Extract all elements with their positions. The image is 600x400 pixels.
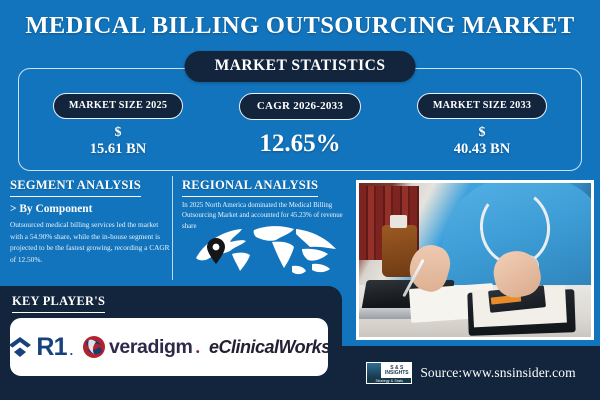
key-players-panel: KEY PLAYER'S R1 . veradigm . [0, 286, 342, 400]
sns-word-text: INSIGHTS [385, 371, 409, 376]
bottle-cap [390, 215, 406, 227]
market-statistics-badge: MARKET STATISTICS [185, 51, 416, 82]
swirl-icon [82, 335, 106, 359]
sns-tagline: Strategy & Stats [367, 378, 411, 383]
currency-symbol-2025: $ [32, 125, 204, 141]
diamond-chevron-icon [7, 334, 33, 360]
world-map-globe [180, 216, 352, 286]
segment-analysis-heading: SEGMENT ANALYSIS [10, 178, 141, 197]
stat-market-size-2025: MARKET SIZE 2025 $ 15.61 BN [32, 93, 204, 157]
regional-analysis-heading: REGIONAL ANALYSIS [182, 178, 318, 197]
stat-market-size-2033: MARKET SIZE 2033 $ 40.43 BN [396, 93, 568, 157]
location-pin-icon [207, 238, 225, 264]
stat-label-cagr: CAGR 2026-2033 [239, 93, 361, 120]
source-text: Source:www.snsinsider.com [420, 365, 575, 381]
photo-content [359, 183, 591, 337]
logo-veradigm: veradigm . [82, 335, 200, 359]
segment-analysis-subheading: > By Component [10, 203, 170, 215]
sns-figure-mark [367, 363, 381, 378]
infographic-canvas: MEDICAL BILLING OUTSOURCING MARKET MARKE… [0, 0, 600, 400]
stat-label-market-size-2025: MARKET SIZE 2025 [53, 93, 183, 119]
stat-value-market-size-2033: $ 40.43 BN [396, 125, 568, 157]
segment-analysis-body: Outsourced medical billing services led … [10, 219, 170, 265]
stat-cagr: CAGR 2026-2033 12.65% [214, 93, 386, 158]
amount-2025: 15.61 BN [32, 141, 204, 157]
market-statistics-row: MARKET SIZE 2025 $ 15.61 BN CAGR 2026-20… [18, 93, 582, 168]
key-players-logo-card: R1 . veradigm . eClinicalWorks [10, 318, 328, 376]
page-title: MEDICAL BILLING OUTSOURCING MARKET [0, 12, 600, 40]
key-players-heading: KEY PLAYER'S [12, 294, 105, 313]
amount-2033: 40.43 BN [396, 141, 568, 157]
stat-value-market-size-2025: $ 15.61 BN [32, 125, 204, 157]
logo-r1-text: R1 [36, 333, 66, 362]
currency-symbol-2033: $ [396, 125, 568, 141]
sns-logo-top: S & S INSIGHTS [367, 363, 411, 378]
logo-r1: R1 . [7, 333, 73, 362]
logo-r1-dot: . [70, 343, 73, 362]
segment-analysis-section: SEGMENT ANALYSIS > By Component Outsourc… [10, 176, 170, 265]
source-bar: S & S INSIGHTS Strategy & Stats Source:w… [342, 346, 600, 400]
medical-billing-photo [356, 180, 594, 340]
sns-initials: S & S INSIGHTS [382, 363, 411, 378]
stat-label-market-size-2033: MARKET SIZE 2033 [417, 93, 547, 119]
section-divider [172, 176, 173, 280]
stat-value-cagr: 12.65% [214, 130, 386, 158]
logo-veradigm-dot: . [195, 337, 200, 358]
logo-eclinicalworks-text: eClinicalWorks [209, 337, 331, 358]
logo-eclinicalworks: eClinicalWorks [209, 337, 331, 358]
snsinsider-logo-icon: S & S INSIGHTS Strategy & Stats [366, 362, 412, 384]
logo-veradigm-text: veradigm [109, 336, 193, 359]
